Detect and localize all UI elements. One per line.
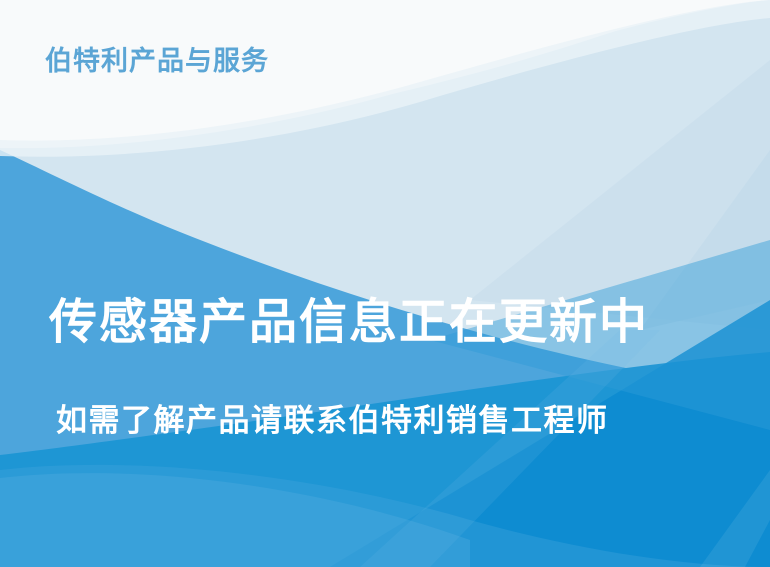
decorative-background	[0, 0, 770, 567]
product-service-banner: 伯特利产品与服务 传感器产品信息正在更新中 如需了解产品请联系伯特利销售工程师	[0, 0, 770, 567]
main-headline: 传感器产品信息正在更新中	[49, 296, 649, 349]
page-title: 伯特利产品与服务	[45, 46, 269, 77]
sub-headline: 如需了解产品请联系伯特利销售工程师	[56, 404, 609, 440]
